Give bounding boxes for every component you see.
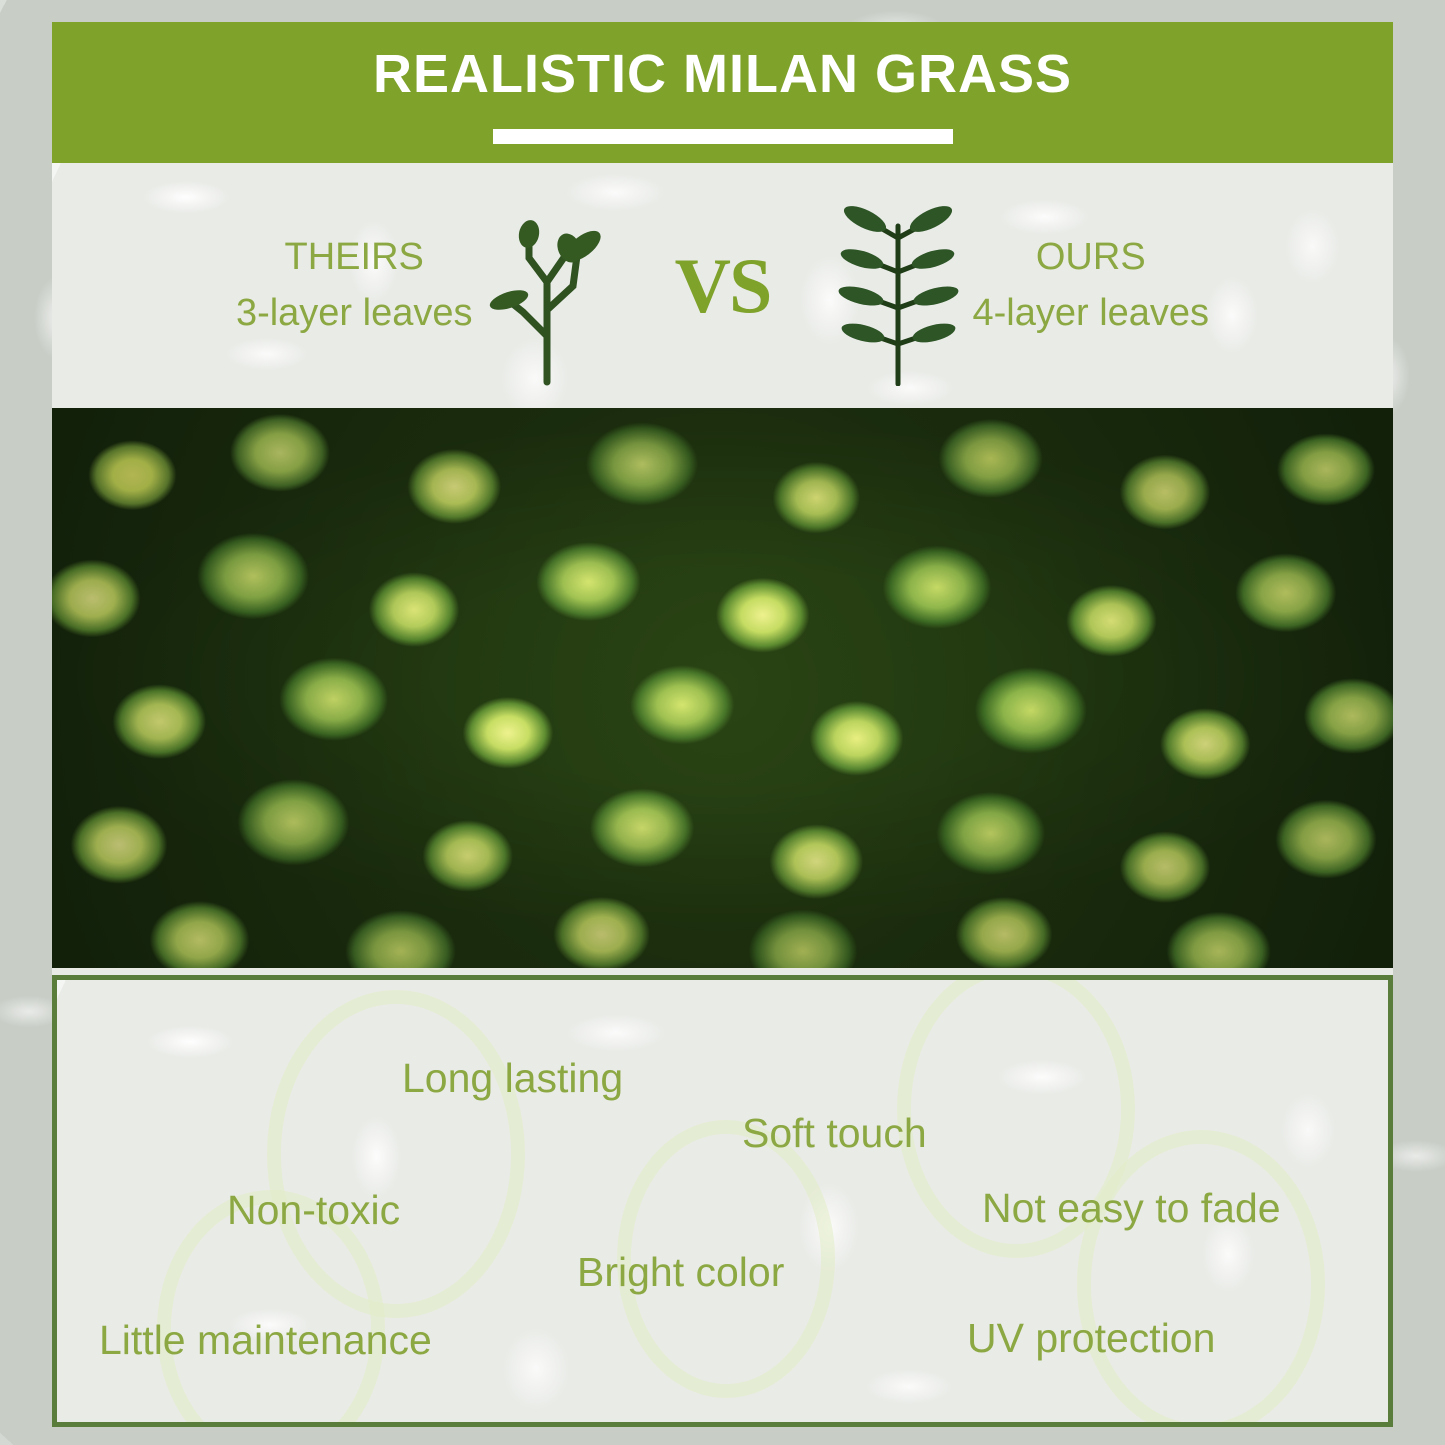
page-title: REALISTIC MILAN GRASS xyxy=(52,46,1393,103)
ours-labels: OURS 4-layer leaves xyxy=(973,230,1210,340)
header-band: REALISTIC MILAN GRASS xyxy=(52,22,1393,163)
sparse-sprig-icon xyxy=(473,186,623,386)
feature-label: Not easy to fade xyxy=(982,1188,1281,1229)
vs-label: VS xyxy=(633,241,813,331)
poster-canvas: REALISTIC MILAN GRASS THEIRS 3-layer lea… xyxy=(0,0,1445,1445)
title-underline-rule xyxy=(493,129,953,144)
features-panel: Long lastingSoft touchNon-toxicNot easy … xyxy=(52,975,1393,1427)
feature-label: Little maintenance xyxy=(99,1320,432,1361)
content-column: REALISTIC MILAN GRASS THEIRS 3-layer lea… xyxy=(52,22,1393,1422)
product-photo-vignette xyxy=(52,408,1393,968)
theirs-labels: THEIRS 3-layer leaves xyxy=(236,230,473,340)
feature-label: Non-toxic xyxy=(227,1190,400,1231)
ours-heading: OURS xyxy=(973,230,1210,285)
product-photo xyxy=(52,408,1393,968)
feature-label: UV protection xyxy=(967,1318,1215,1359)
feature-label: Long lasting xyxy=(402,1058,623,1099)
ours-subheading: 4-layer leaves xyxy=(973,286,1210,341)
feature-label: Bright color xyxy=(577,1252,784,1293)
feature-label: Soft touch xyxy=(742,1113,927,1154)
comparison-section: THEIRS 3-layer leaves xyxy=(52,163,1393,408)
full-sprig-icon xyxy=(823,186,973,386)
comparison-ours: OURS 4-layer leaves xyxy=(813,186,1343,386)
theirs-heading: THEIRS xyxy=(236,230,473,285)
watermark-ring xyxy=(1077,1130,1325,1427)
comparison-theirs: THEIRS 3-layer leaves xyxy=(103,186,633,386)
theirs-subheading: 3-layer leaves xyxy=(236,286,473,341)
